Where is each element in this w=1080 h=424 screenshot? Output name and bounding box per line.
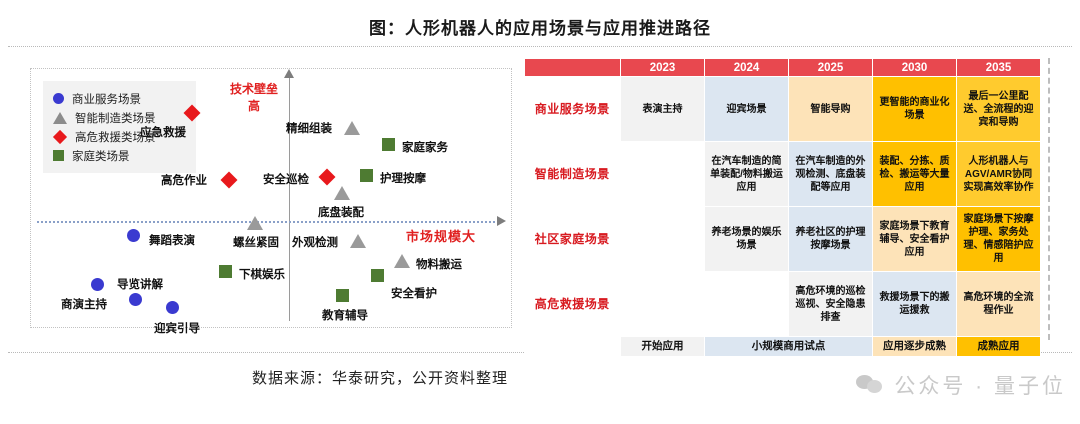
- table-row: 高危救援场景高危环境的巡检巡视、安全隐患排查救援场景下的搬运援救高危环境的全流程…: [525, 272, 1041, 337]
- table-summary-cell: 成熟应用: [957, 337, 1041, 357]
- table-summary-row: 开始应用小规模商用试点应用逐步成熟成熟应用: [525, 337, 1041, 357]
- scatter-point-square[interactable]: [382, 138, 395, 151]
- scatter-point-square[interactable]: [336, 289, 349, 302]
- table-header-year: 2035: [957, 59, 1041, 77]
- table-cell: 表演主持: [621, 77, 705, 142]
- table-summary-cell: 开始应用: [621, 337, 705, 357]
- scatter-point-label: 家庭家务: [402, 139, 448, 155]
- scatter-point-label: 高危作业: [161, 172, 207, 188]
- y-axis-line: [289, 75, 290, 321]
- legend-item-label: 商业服务场景: [72, 91, 141, 107]
- table-row-label: 商业服务场景: [525, 77, 621, 142]
- scatter-point-circle[interactable]: [127, 229, 140, 242]
- table-row-label: 智能制造场景: [525, 142, 621, 207]
- table-cell: 救援场景下的搬运援救: [873, 272, 957, 337]
- table-cell: [621, 142, 705, 207]
- scatter-point-label: 导览讲解: [117, 276, 163, 292]
- triangle-marker-icon: [53, 112, 67, 124]
- table-row: 社区家庭场景养老场景的娱乐场景养老社区的护理按摩场景家庭场景下教育辅导、安全看护…: [525, 207, 1041, 272]
- scatter-point-triangle[interactable]: [350, 234, 366, 248]
- quadrant-chart: 技术壁垒高 市场规模大 商业服务场景智能制造类场景高危救援类场景家庭类场景 应急…: [30, 68, 512, 328]
- y-axis-label: 技术壁垒高: [228, 81, 280, 115]
- table-cell: 养老场景的娱乐场景: [705, 207, 789, 272]
- table-row: 商业服务场景表演主持迎宾场景智能导购更智能的商业化场景最后一公里配送、全流程的迎…: [525, 77, 1041, 142]
- scatter-point-label: 精细组装: [286, 120, 332, 136]
- table-header-corner: [525, 59, 621, 77]
- scatter-point-label: 底盘装配: [318, 204, 364, 220]
- diamond-marker-icon: [53, 129, 67, 143]
- x-axis-line: [37, 221, 499, 223]
- scatter-point-label: 物料搬运: [416, 256, 462, 272]
- scatter-point-triangle[interactable]: [334, 186, 350, 200]
- table-cell: [621, 207, 705, 272]
- table-cell: [621, 272, 705, 337]
- scatter-point-label: 螺丝紧固: [233, 234, 279, 250]
- table-header-year: 2024: [705, 59, 789, 77]
- table-summary-cell: 小规模商用试点: [705, 337, 873, 357]
- table-row: 智能制造场景在汽车制造的简单装配/物料搬运应用在汽车制造的外观检测、底盘装配等应…: [525, 142, 1041, 207]
- roadmap-table-wrapper: 20232024202520302035 商业服务场景表演主持迎宾场景智能导购更…: [524, 58, 1050, 340]
- table-cell: 装配、分拣、质检、搬运等大量应用: [873, 142, 957, 207]
- watermark: 公众号 · 量子位: [856, 370, 1066, 400]
- scatter-point-label: 应急救援: [140, 124, 186, 140]
- scatter-point-label: 迎宾引导: [154, 320, 200, 336]
- table-header-year: 2023: [621, 59, 705, 77]
- scatter-point-triangle[interactable]: [394, 254, 410, 268]
- divider-top: [8, 46, 1072, 47]
- x-axis-label: 市场规模大: [406, 226, 476, 245]
- table-cell: 家庭场景下按摩护理、家务处理、情感陪护应用: [957, 207, 1041, 272]
- table-cell: 家庭场景下教育辅导、安全看护应用: [873, 207, 957, 272]
- scatter-point-triangle[interactable]: [247, 216, 263, 230]
- scatter-point-circle[interactable]: [129, 293, 142, 306]
- scatter-point-triangle[interactable]: [344, 121, 360, 135]
- legend-item-circle: 商业服务场景: [53, 89, 188, 108]
- table-row-label: 社区家庭场景: [525, 207, 621, 272]
- table-cell: 在汽车制造的外观检测、底盘装配等应用: [789, 142, 873, 207]
- scatter-point-label: 商演主持: [61, 296, 107, 312]
- scatter-point-label: 护理按摩: [380, 170, 426, 186]
- legend-item-square: 家庭类场景: [53, 146, 188, 165]
- roadmap-table: 20232024202520302035 商业服务场景表演主持迎宾场景智能导购更…: [524, 58, 1041, 357]
- square-marker-icon: [53, 150, 64, 161]
- scatter-point-label: 舞蹈表演: [149, 232, 195, 248]
- wechat-icon: [856, 373, 886, 397]
- figure-page: 图：人形机器人的应用场景与应用推进路径 技术壁垒高 市场规模大 商业服务场景智能…: [0, 0, 1080, 424]
- table-cell: 高危环境的巡检巡视、安全隐患排查: [789, 272, 873, 337]
- table-row-label: 高危救援场景: [525, 272, 621, 337]
- scatter-point-label: 下棋娱乐: [239, 266, 285, 282]
- scatter-point-label: 安全看护: [391, 285, 437, 301]
- y-axis-arrow-icon: [284, 69, 294, 78]
- table-cell: 智能导购: [789, 77, 873, 142]
- table-header-row: 20232024202520302035: [525, 59, 1041, 77]
- circle-marker-icon: [53, 93, 64, 104]
- legend-item-label: 家庭类场景: [72, 148, 130, 164]
- scatter-point-label: 教育辅导: [322, 307, 368, 323]
- scatter-point-diamond[interactable]: [319, 169, 336, 186]
- table-header-year: 2025: [789, 59, 873, 77]
- table-summary-cell: 应用逐步成熟: [873, 337, 957, 357]
- scatter-point-label: 安全巡检: [263, 171, 309, 187]
- x-axis-arrow-icon: [497, 216, 506, 226]
- scatter-point-circle[interactable]: [166, 301, 179, 314]
- scatter-point-diamond[interactable]: [221, 172, 238, 189]
- source-note: 数据来源：华泰研究，公开资料整理: [0, 367, 760, 388]
- table-cell: [705, 272, 789, 337]
- table-cell: 养老社区的护理按摩场景: [789, 207, 873, 272]
- scatter-point-square[interactable]: [371, 269, 384, 282]
- scatter-point-square[interactable]: [360, 169, 373, 182]
- table-cell: 迎宾场景: [705, 77, 789, 142]
- scatter-point-square[interactable]: [219, 265, 232, 278]
- table-cell: 最后一公里配送、全流程的迎宾和导购: [957, 77, 1041, 142]
- table-header-year: 2030: [873, 59, 957, 77]
- table-body: 商业服务场景表演主持迎宾场景智能导购更智能的商业化场景最后一公里配送、全流程的迎…: [525, 77, 1041, 357]
- table-cell: 更智能的商业化场景: [873, 77, 957, 142]
- table-cell: 人形机器人与AGV/AMR协同实现高效率协作: [957, 142, 1041, 207]
- table-cell: 在汽车制造的简单装配/物料搬运应用: [705, 142, 789, 207]
- table-cell: 高危环境的全流程作业: [957, 272, 1041, 337]
- scatter-point-label: 外观检测: [292, 234, 338, 250]
- scatter-point-circle[interactable]: [91, 278, 104, 291]
- table-summary-corner: [525, 337, 621, 357]
- watermark-text: 公众号 · 量子位: [894, 370, 1066, 400]
- page-title: 图：人形机器人的应用场景与应用推进路径: [0, 14, 1080, 39]
